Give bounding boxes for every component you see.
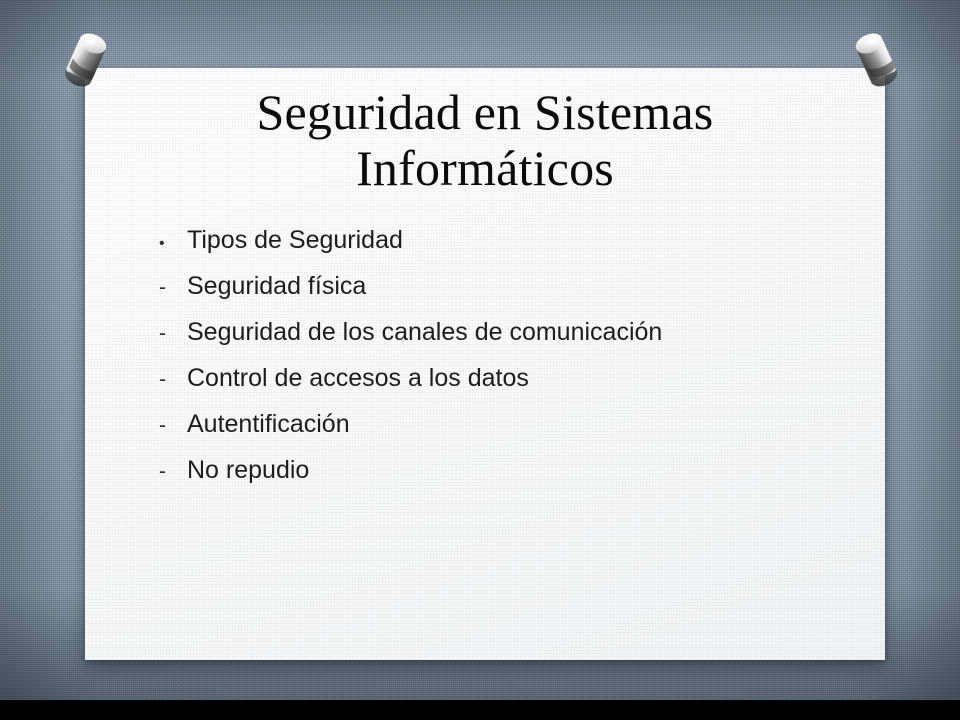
list-item-label: Tipos de Seguridad <box>187 228 403 253</box>
list-item: - No repudio <box>159 458 859 504</box>
list-item-label: No repudio <box>187 458 309 483</box>
list-item: - Seguridad física <box>159 274 859 320</box>
bullet-dash-icon: - <box>159 369 187 390</box>
slide-title: Seguridad en Sistemas Informáticos <box>125 84 845 196</box>
bullet-list: • Tipos de Seguridad - Seguridad física … <box>159 228 859 504</box>
list-item-label: Control de accesos a los datos <box>187 366 529 391</box>
bullet-dash-icon: - <box>159 461 187 482</box>
card-content: Seguridad en Sistemas Informáticos • Tip… <box>85 68 885 660</box>
pushpin-body <box>62 30 110 91</box>
list-item-label: Seguridad de los canales de comunicación <box>187 320 662 345</box>
pushpin-body <box>853 30 901 91</box>
bullet-dot-icon: • <box>159 236 187 252</box>
slide-title-line-1: Seguridad en Sistemas <box>125 84 845 140</box>
list-item: - Seguridad de los canales de comunicaci… <box>159 320 859 366</box>
slide-card: Seguridad en Sistemas Informáticos • Tip… <box>85 68 885 660</box>
list-item-label: Autentificación <box>187 412 350 437</box>
list-item: • Tipos de Seguridad <box>159 228 859 274</box>
slide-title-line-2: Informáticos <box>125 140 845 196</box>
list-item-label: Seguridad física <box>187 274 366 299</box>
pushpin-icon <box>58 24 114 94</box>
bullet-dash-icon: - <box>159 415 187 436</box>
pushpin-icon <box>848 24 904 94</box>
presentation-slide: Seguridad en Sistemas Informáticos • Tip… <box>0 0 960 720</box>
letterbox-bar-bottom <box>0 700 960 720</box>
list-item: - Control de accesos a los datos <box>159 366 859 412</box>
list-item: - Autentificación <box>159 412 859 458</box>
bullet-dash-icon: - <box>159 323 187 344</box>
bullet-dash-icon: - <box>159 277 187 298</box>
